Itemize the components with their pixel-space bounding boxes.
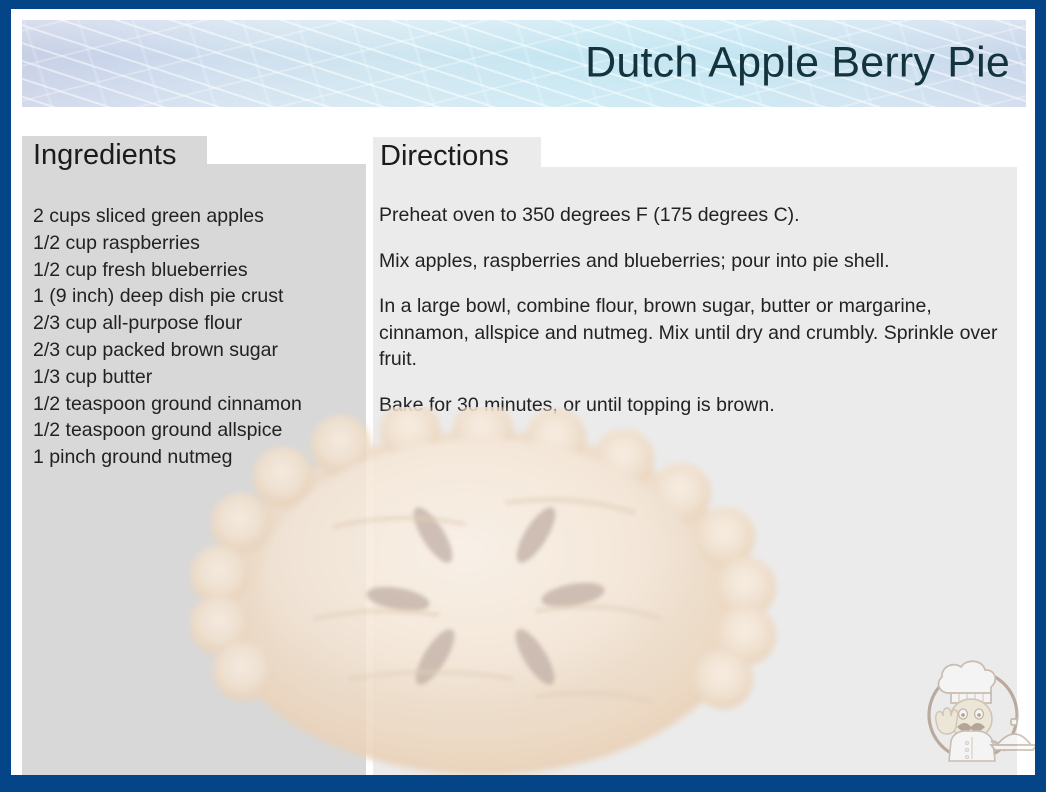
directions-section-tab: Directions [373, 137, 541, 179]
list-item: 2/3 cup all-purpose flour [33, 310, 363, 337]
list-item: 1/2 teaspoon ground allspice [33, 417, 363, 444]
list-item: 1 pinch ground nutmeg [33, 444, 363, 471]
recipe-card-page: Dutch Apple Berry Pie Ingredients 2 cups… [0, 0, 1046, 792]
list-item: 1/2 teaspoon ground cinnamon [33, 391, 363, 418]
directions-steps: Preheat oven to 350 degrees F (175 degre… [379, 202, 1019, 437]
list-item: 2 cups sliced green apples [33, 203, 363, 230]
list-item: 2/3 cup packed brown sugar [33, 337, 363, 364]
directions-heading: Directions [380, 140, 509, 173]
direction-step: Bake for 30 minutes, or until topping is… [379, 392, 1019, 419]
header-banner: Dutch Apple Berry Pie [22, 20, 1026, 107]
direction-step: Mix apples, raspberries and blueberries;… [379, 248, 1019, 275]
ingredients-heading: Ingredients [33, 139, 177, 172]
list-item: 1 (9 inch) deep dish pie crust [33, 283, 363, 310]
page-title: Dutch Apple Berry Pie [585, 38, 1010, 87]
list-item: 1/2 cup raspberries [33, 230, 363, 257]
list-item: 1/3 cup butter [33, 364, 363, 391]
ingredients-list: 2 cups sliced green apples 1/2 cup raspb… [33, 203, 363, 471]
ingredients-section-tab: Ingredients [22, 136, 207, 176]
direction-step: In a large bowl, combine flour, brown su… [379, 293, 1019, 373]
list-item: 1/2 cup fresh blueberries [33, 257, 363, 284]
direction-step: Preheat oven to 350 degrees F (175 degre… [379, 202, 1019, 229]
recipe-sheet: Dutch Apple Berry Pie Ingredients 2 cups… [11, 9, 1035, 775]
